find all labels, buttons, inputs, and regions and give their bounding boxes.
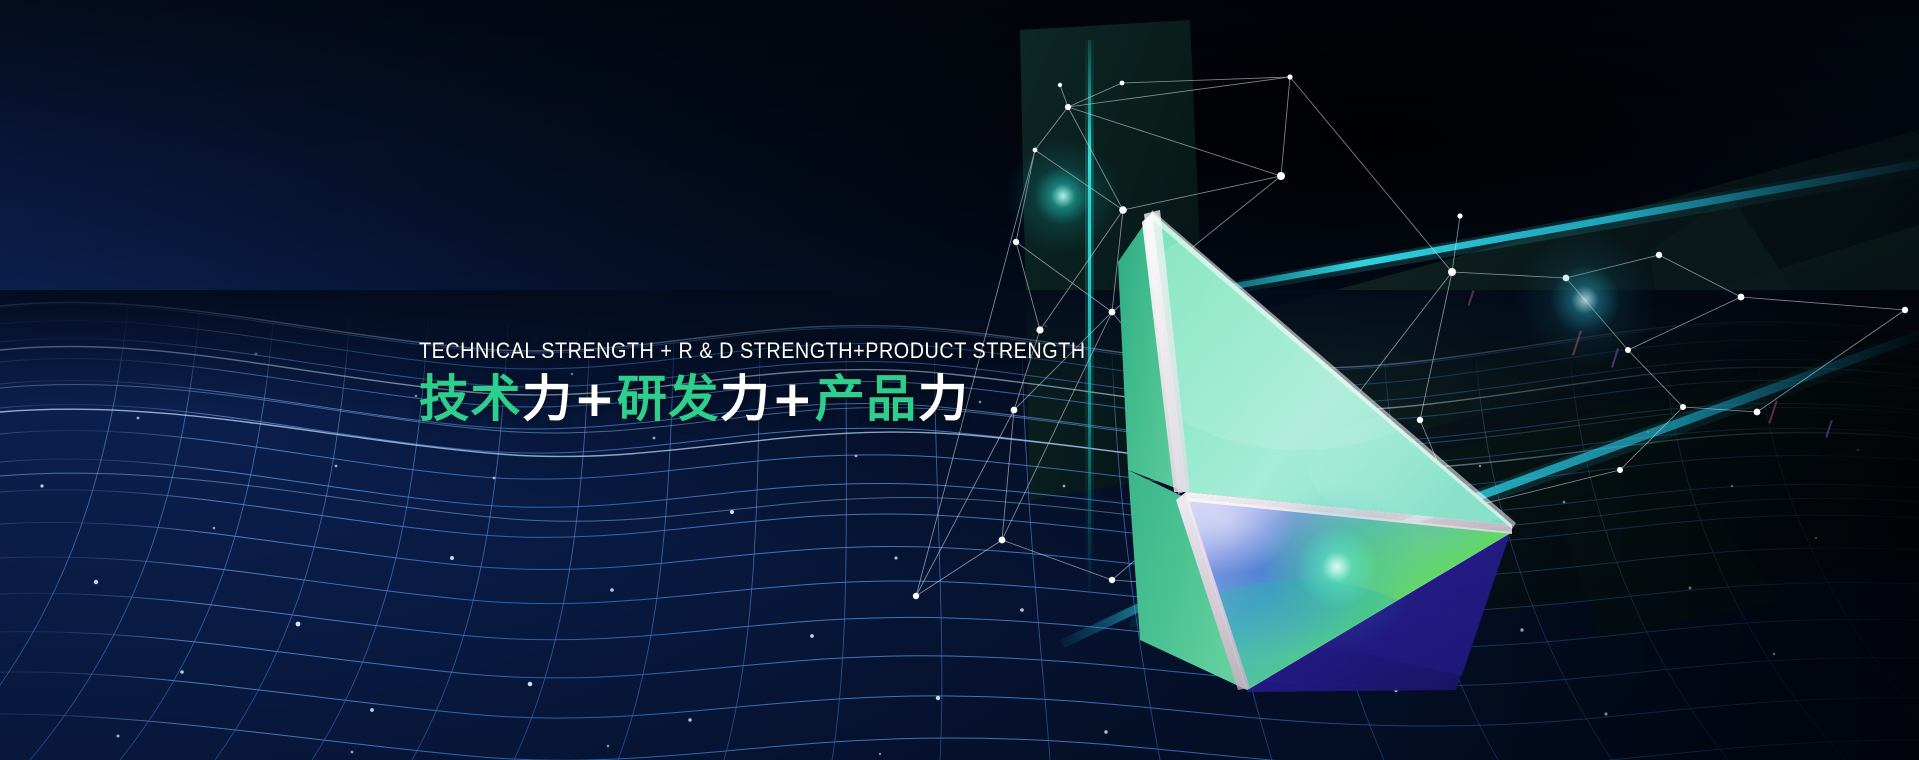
page-title: 技术力+研发力+产品力: [419, 373, 1139, 426]
headline-segment-5: 产品: [815, 370, 918, 428]
headline-segment-4: 力: [720, 370, 772, 428]
headline-plus-1: +: [574, 370, 617, 428]
hero-banner: TECHNICAL STRENGTH + R & D STRENGTH+PROD…: [0, 0, 1919, 760]
headline-segment-2: 力: [522, 370, 574, 428]
hero-copy: TECHNICAL STRENGTH + R & D STRENGTH+PROD…: [419, 338, 1139, 426]
headline-plus-2: +: [771, 370, 814, 428]
headline-segment-3: 研发: [617, 370, 720, 428]
headline-segment-1: 技术: [419, 370, 522, 428]
headline-segment-6: 力: [918, 370, 970, 428]
eyebrow-text: TECHNICAL STRENGTH + R & D STRENGTH+PROD…: [419, 338, 1053, 364]
